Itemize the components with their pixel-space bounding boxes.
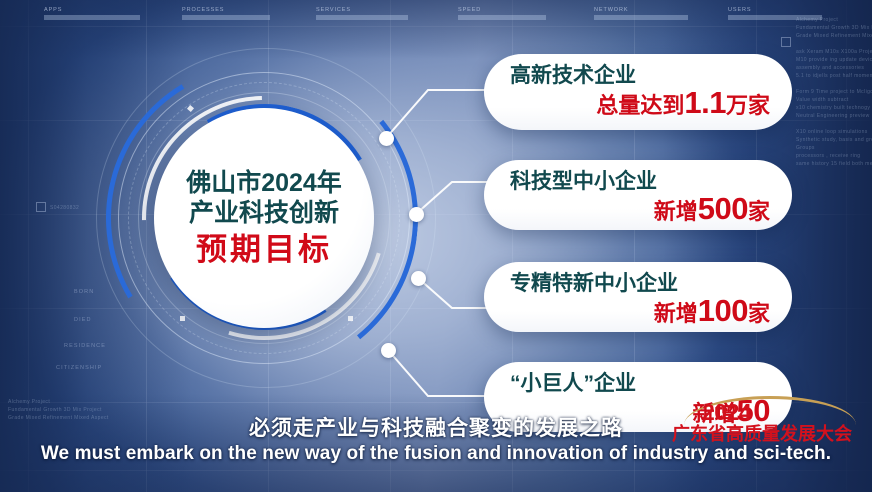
topnav-item-services[interactable]: SERVICES: [316, 7, 408, 20]
topnav-bar-network: [594, 15, 688, 20]
topnav-item-speed[interactable]: SPEED: [458, 7, 546, 20]
stat-card-1[interactable]: 高新技术企业 总量达到1.1万家: [484, 54, 792, 130]
center-title-line3: 预期目标: [196, 232, 332, 268]
topnav-item-users[interactable]: USERS: [728, 7, 822, 20]
stat-card-1-suffix: 万家: [726, 93, 770, 118]
stat-card-3-suffix: 家: [748, 301, 770, 326]
topnav-label-processes: PROCESSES: [182, 7, 270, 13]
topnav-label-apps: APPS: [44, 7, 140, 13]
stat-card-1-number: 1.1: [684, 85, 726, 120]
central-ring-graphic: 佛山市2024年 产业科技创新 预期目标: [112, 58, 418, 424]
decor-square-icon-right: [781, 37, 791, 47]
topnav-label-users: USERS: [728, 7, 822, 13]
event-logo: 2024 广东省高质量发展大会: [668, 396, 866, 442]
infographic-slide: BORN DIED RESIDENCE CITIZENSHIP S0428083…: [0, 0, 872, 492]
logo-name: 广东省高质量发展大会: [672, 420, 852, 446]
stat-card-4-title: “小巨人”企业: [510, 371, 770, 396]
stat-card-3-prefix: 新增: [654, 301, 698, 326]
connector-node-3: [411, 271, 426, 286]
tick-mark: [180, 316, 185, 321]
stat-card-1-title: 高新技术企业: [510, 63, 770, 88]
topnav-bar-processes: [182, 15, 270, 20]
topnav-bar-services: [316, 15, 408, 20]
topnav-label-services: SERVICES: [316, 7, 408, 13]
topnav-label-speed: SPEED: [458, 7, 546, 13]
decor-square-icon: [36, 202, 46, 212]
stat-card-2-number: 500: [698, 191, 748, 226]
top-nav-bar: APPS PROCESSES SERVICES SPEED NETWORK US…: [0, 0, 872, 26]
topnav-item-processes[interactable]: PROCESSES: [182, 7, 270, 20]
topnav-bar-apps: [44, 15, 140, 20]
stat-card-1-prefix: 总量达到: [596, 93, 684, 118]
connector-node-1: [379, 131, 394, 146]
topnav-bar-speed: [458, 15, 546, 20]
stat-card-3-value: 新增100家: [510, 297, 770, 328]
topnav-item-network[interactable]: NETWORK: [594, 7, 688, 20]
stat-card-3[interactable]: 专精特新中小企业 新增100家: [484, 262, 792, 332]
stat-card-2[interactable]: 科技型中小企业 新增500家: [484, 160, 792, 230]
stat-card-3-number: 100: [698, 293, 748, 328]
subtitle-english: We must embark on the new way of the fus…: [0, 443, 872, 465]
center-title-line1: 佛山市2024年: [186, 168, 342, 198]
stat-card-2-value: 新增500家: [510, 195, 770, 226]
stat-card-2-prefix: 新增: [654, 199, 698, 224]
center-title-line2: 产业科技创新: [189, 198, 339, 228]
center-circle: 佛山市2024年 产业科技创新 预期目标: [154, 108, 374, 328]
tick-mark: [348, 316, 353, 321]
topnav-item-apps[interactable]: APPS: [44, 7, 140, 20]
connector-node-4: [381, 343, 396, 358]
stat-card-1-value: 总量达到1.1万家: [510, 89, 770, 120]
topnav-bar-users: [728, 15, 822, 20]
connector-node-2: [409, 207, 424, 222]
stat-card-2-suffix: 家: [748, 199, 770, 224]
topnav-label-network: NETWORK: [594, 7, 688, 13]
